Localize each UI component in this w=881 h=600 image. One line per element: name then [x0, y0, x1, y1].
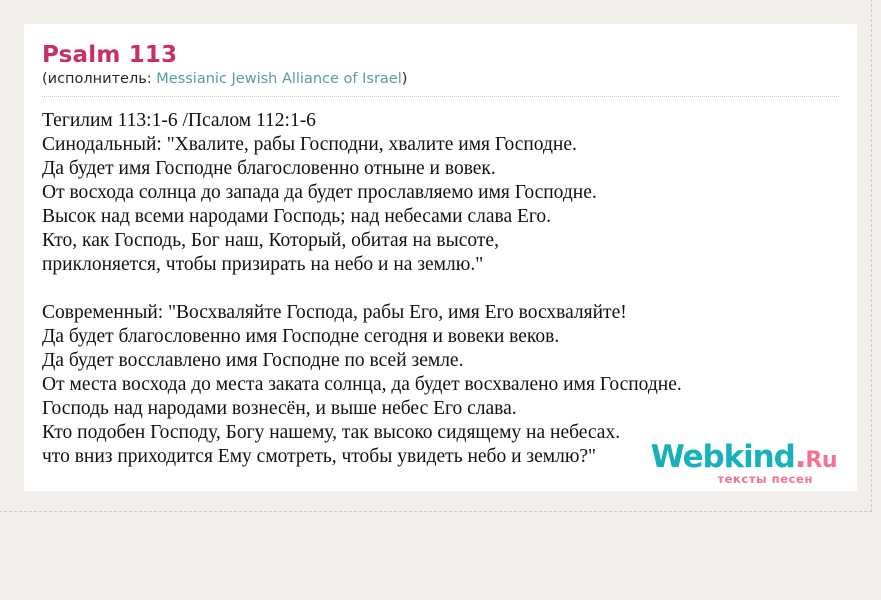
- webkind-watermark-logo: Webkind.Ru тексты песен: [651, 442, 837, 486]
- watermark-kind-text: kind: [724, 439, 795, 475]
- artist-line: (исполнитель: Messianic Jewish Alliance …: [42, 70, 839, 91]
- watermark-tagline: тексты песен: [651, 474, 813, 486]
- artist-link[interactable]: Messianic Jewish Alliance of Israel: [156, 71, 402, 87]
- lyrics-text: Тегилим 113:1-6 /Псалом 112:1-6 Синодаль…: [42, 109, 839, 469]
- song-lyrics-card: Psalm 113 (исполнитель: Messianic Jewish…: [24, 24, 857, 491]
- watermark-ru-text: Ru: [805, 448, 837, 473]
- watermark-dot: .: [795, 439, 806, 475]
- page-title: Psalm 113: [42, 42, 839, 68]
- watermark-web-text: Web: [651, 439, 724, 475]
- artist-suffix-label: ): [402, 71, 408, 87]
- watermark-wordmark: Webkind.Ru: [651, 442, 837, 473]
- card-header: Psalm 113 (исполнитель: Messianic Jewish…: [42, 42, 839, 97]
- artist-prefix-label: (исполнитель:: [42, 71, 156, 87]
